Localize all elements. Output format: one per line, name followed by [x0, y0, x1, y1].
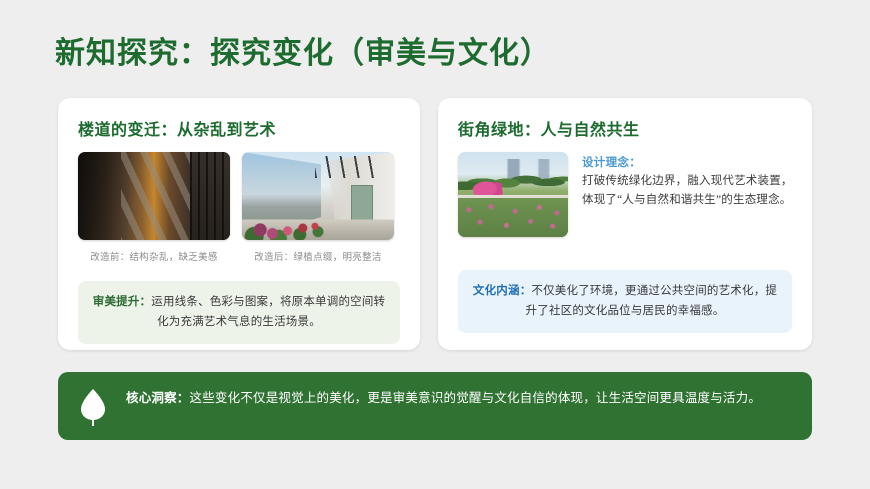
- design-concept-block: 设计理念： 打破传统绿化边界，融入现代艺术装置，体现了“人与自然和谐共生”的生态…: [582, 152, 796, 237]
- cultural-meaning-box: 文化内涵：不仅美化了环境，更通过公共空间的艺术化，提升了社区的文化品位与居民的幸…: [458, 270, 792, 333]
- corridor-after-photo: [242, 152, 394, 240]
- card-heading-right: 街角绿地：人与自然共生: [458, 116, 796, 140]
- photo-col-before: 改造前：结构杂乱，缺乏美感: [78, 152, 230, 263]
- corridor-door: [351, 185, 373, 222]
- leaf-icon: [78, 387, 108, 427]
- slide-root: 新知探究：探究变化（审美与文化） 楼道的变迁：从杂乱到艺术 改造前：结构杂乱，缺…: [0, 0, 870, 489]
- aesthetic-upgrade-text: 运用线条、色彩与图案，将原本单调的空间转化为充满艺术气息的生活场景。: [151, 296, 385, 328]
- right-card-body: 设计理念： 打破传统绿化边界，融入现代艺术装置，体现了“人与自然和谐共生”的生态…: [458, 152, 796, 237]
- photo-row: 改造前：结构杂乱，缺乏美感 改造后：绿植点缀，明亮整洁: [78, 152, 404, 263]
- design-concept-text: 打破传统绿化边界，融入现代艺术装置，体现了“人与自然和谐共生”的生态理念。: [582, 172, 796, 209]
- stairwell-before-photo: [78, 152, 230, 240]
- core-insight-banner: 核心洞察：这些变化不仅是视觉上的美化，更是审美意识的觉醒与文化自信的体现，让生活…: [58, 372, 812, 440]
- cultural-meaning-label: 文化内涵：: [473, 285, 532, 297]
- card-heading-left: 楼道的变迁：从杂乱到艺术: [78, 116, 404, 140]
- corridor-pipes: [315, 156, 382, 179]
- card-street-green-space: 街角绿地：人与自然共生 设计理念： 打破传统绿化边界，融入现代艺术装置，体现了“…: [438, 98, 812, 350]
- design-concept-label: 设计理念：: [582, 154, 796, 170]
- aesthetic-upgrade-label: 审美提升：: [93, 296, 152, 308]
- core-insight-text: 这些变化不仅是视觉上的美化，更是审美意识的觉醒与文化自信的体现，让生活空间更具温…: [190, 391, 762, 405]
- cards-row: 楼道的变迁：从杂乱到艺术 改造前：结构杂乱，缺乏美感 改造后：绿植点缀，明亮整洁: [58, 98, 812, 350]
- core-insight-label: 核心洞察：: [126, 391, 190, 405]
- park-flowerbed: [458, 198, 568, 237]
- cultural-meaning-text: 不仅美化了环境，更通过公共空间的艺术化，提升了社区的文化品位与居民的幸福感。: [526, 285, 778, 317]
- street-green-space-photo: [458, 152, 568, 237]
- photo-caption-before: 改造前：结构杂乱，缺乏美感: [78, 249, 230, 263]
- core-insight-text-wrap: 核心洞察：这些变化不仅是视觉上的美化，更是审美意识的觉醒与文化自信的体现，让生活…: [126, 386, 761, 410]
- card-corridor-transformation: 楼道的变迁：从杂乱到艺术 改造前：结构杂乱，缺乏美感 改造后：绿植点缀，明亮整洁: [58, 98, 420, 350]
- page-title: 新知探究：探究变化（审美与文化）: [55, 36, 551, 72]
- photo-caption-after: 改造后：绿植点缀，明亮整洁: [242, 249, 394, 263]
- photo-col-after: 改造后：绿植点缀，明亮整洁: [242, 152, 394, 263]
- aesthetic-upgrade-box: 审美提升：运用线条、色彩与图案，将原本单调的空间转化为充满艺术气息的生活场景。: [78, 281, 400, 344]
